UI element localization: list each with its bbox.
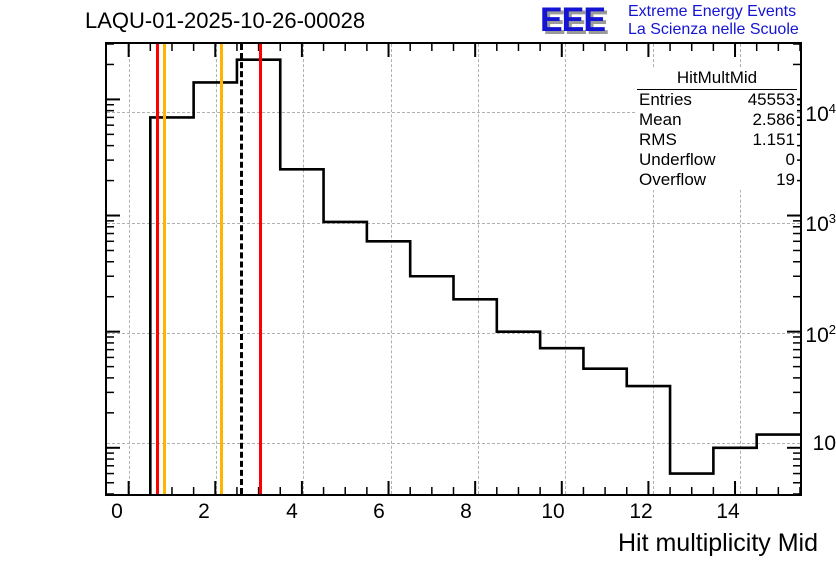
stats-row-rms: RMS 1.151 xyxy=(637,130,797,150)
x-tick-label-12: 12 xyxy=(621,500,661,524)
stats-value: 1.151 xyxy=(752,130,795,150)
eee-logo-line1: Extreme Energy Events xyxy=(628,3,796,21)
x-tick-label-6: 6 xyxy=(359,500,399,524)
x-tick-label-10: 10 xyxy=(533,500,573,524)
x-tick-label-14: 14 xyxy=(708,500,748,524)
stats-value: 2.586 xyxy=(752,110,795,130)
stats-row-underflow: Underflow 0 xyxy=(637,150,797,170)
stats-box: HitMultMid Entries 45553 Mean 2.586 RMS … xyxy=(637,68,797,190)
eee-logo-line2: La Scienza nelle Scuole xyxy=(628,21,799,39)
stats-key: Overflow xyxy=(639,170,706,190)
mean-marker-dashed xyxy=(240,44,243,494)
stats-value: 45553 xyxy=(748,90,795,110)
eee-logo: EEE Extreme Energy Events La Scienza nel… xyxy=(540,2,832,42)
x-axis-title: Hit multiplicity Mid xyxy=(618,529,818,558)
stats-key: RMS xyxy=(639,130,677,150)
root-canvas: LAQU-01-2025-10-26-00028 EEE Extreme Ene… xyxy=(0,0,836,572)
x-tick-label-8: 8 xyxy=(446,500,486,524)
stats-key: Entries xyxy=(639,90,692,110)
stats-row-overflow: Overflow 19 xyxy=(637,170,797,190)
page-title: LAQU-01-2025-10-26-00028 xyxy=(85,8,365,34)
y-tick-text: 10 xyxy=(813,432,836,455)
stats-row-mean: Mean 2.586 xyxy=(637,110,797,130)
stats-key: Underflow xyxy=(639,150,716,170)
x-tick-label-0: 0 xyxy=(97,500,137,524)
threshold-low-orange xyxy=(163,44,166,494)
y-tick-text: 102 xyxy=(805,324,836,347)
x-tick-label-4: 4 xyxy=(272,500,312,524)
eee-logo-mark: EEE xyxy=(540,3,605,37)
x-tick-label-2: 2 xyxy=(184,500,224,524)
stats-value: 19 xyxy=(776,170,795,190)
stats-box-title: HitMultMid xyxy=(637,68,797,90)
threshold-high-red xyxy=(259,44,262,494)
y-tick-text: 104 xyxy=(805,103,836,126)
y-tick-text: 103 xyxy=(805,213,836,236)
stats-row-entries: Entries 45553 xyxy=(637,90,797,110)
threshold-mid-orange xyxy=(220,44,223,494)
threshold-low-red xyxy=(156,44,159,494)
stats-key: Mean xyxy=(639,110,682,130)
stats-value: 0 xyxy=(786,150,795,170)
